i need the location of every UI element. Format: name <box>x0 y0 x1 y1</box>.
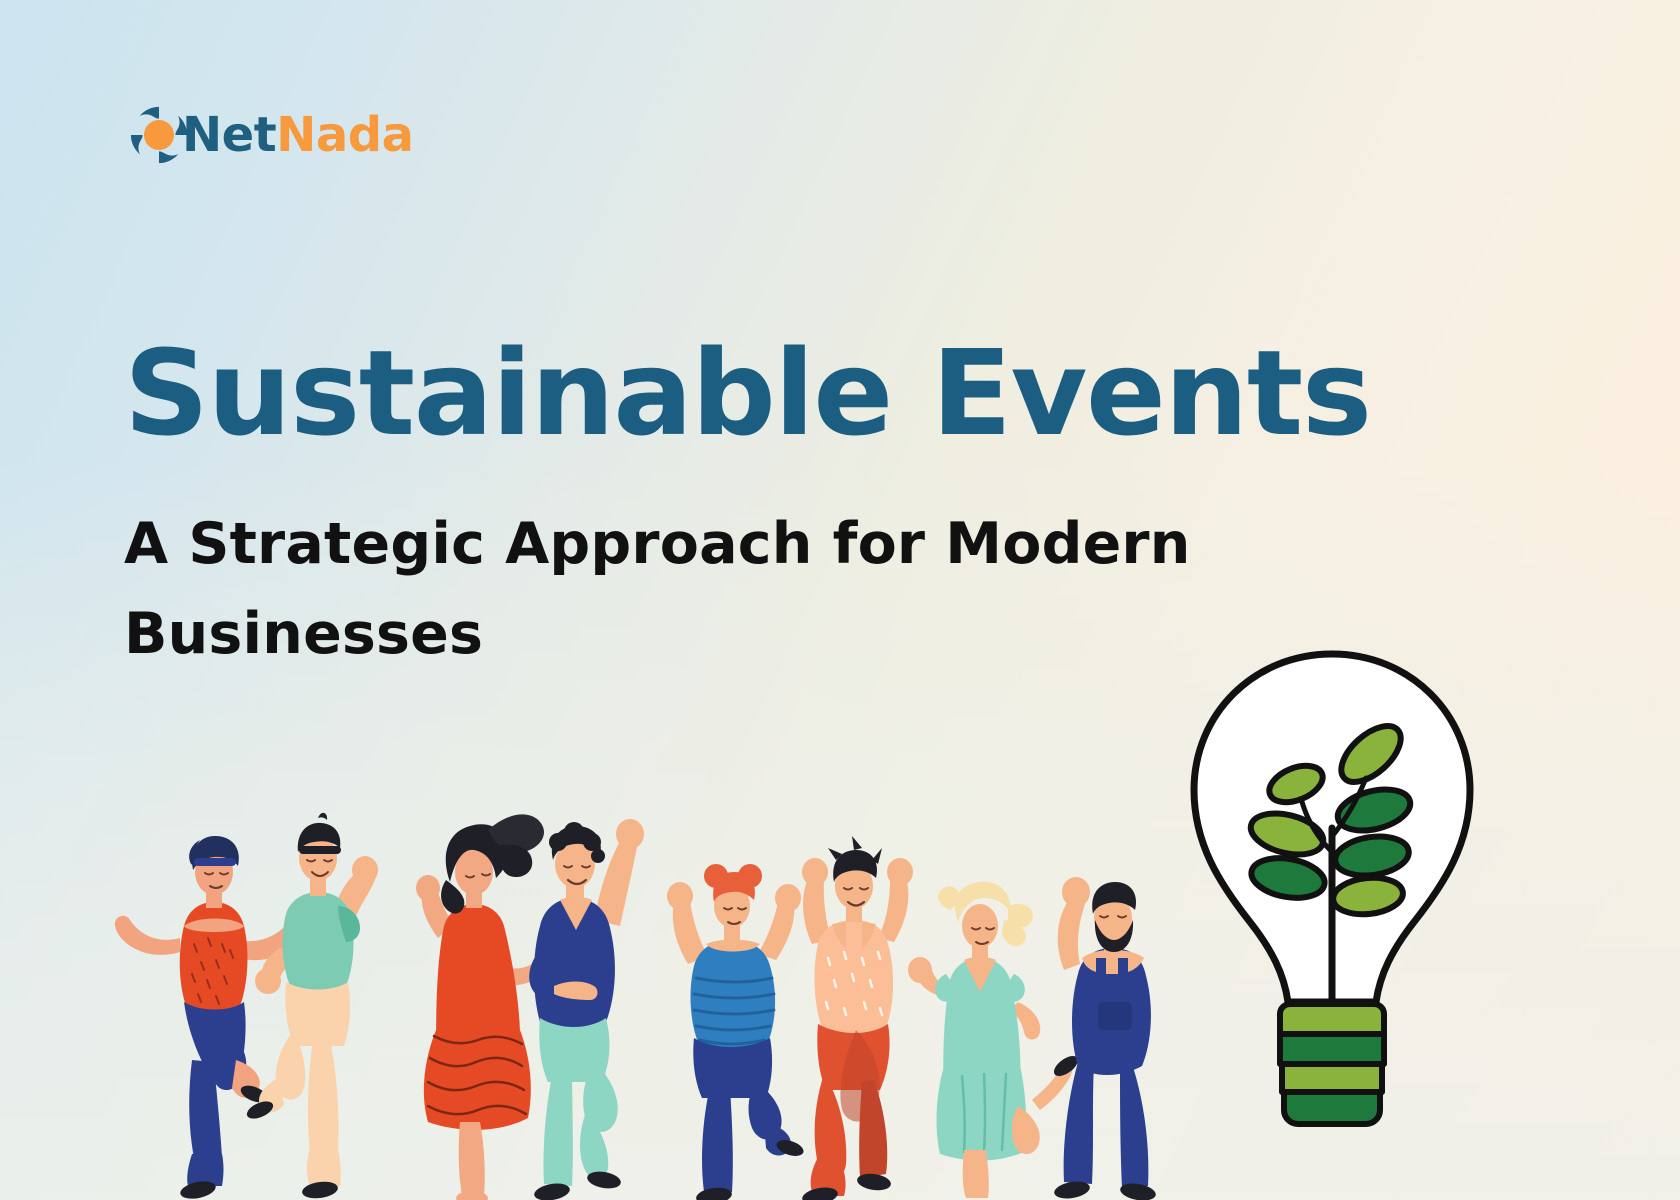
dancer-figure-6 <box>801 836 913 1200</box>
page-subtitle: A Strategic Approach for Modern Business… <box>124 499 1254 679</box>
page-title: Sustainable Events <box>124 331 1371 456</box>
dancing-people-illustration <box>88 730 1158 1200</box>
dancer-figure-8 <box>1053 877 1157 1200</box>
dancer-figure-4 <box>529 819 644 1200</box>
dancer-figure-5 <box>667 864 805 1200</box>
brand-logo-text: NetNada <box>182 111 413 159</box>
dancer-figure-2 <box>244 813 378 1200</box>
poster-canvas: NetNada Sustainable Events A Strategic A… <box>0 0 1680 1200</box>
dancer-figure-3 <box>416 814 544 1200</box>
dancer-figure-7 <box>908 882 1081 1198</box>
lightbulb-with-plant-illustration <box>1152 638 1512 1138</box>
dancer-figure-1 <box>115 836 299 1200</box>
brand-logo-nada: Nada <box>276 107 413 163</box>
brand-logo[interactable]: NetNada <box>128 104 413 166</box>
netnada-aperture-swirl-icon <box>128 104 190 166</box>
brand-logo-net: Net <box>182 107 276 163</box>
